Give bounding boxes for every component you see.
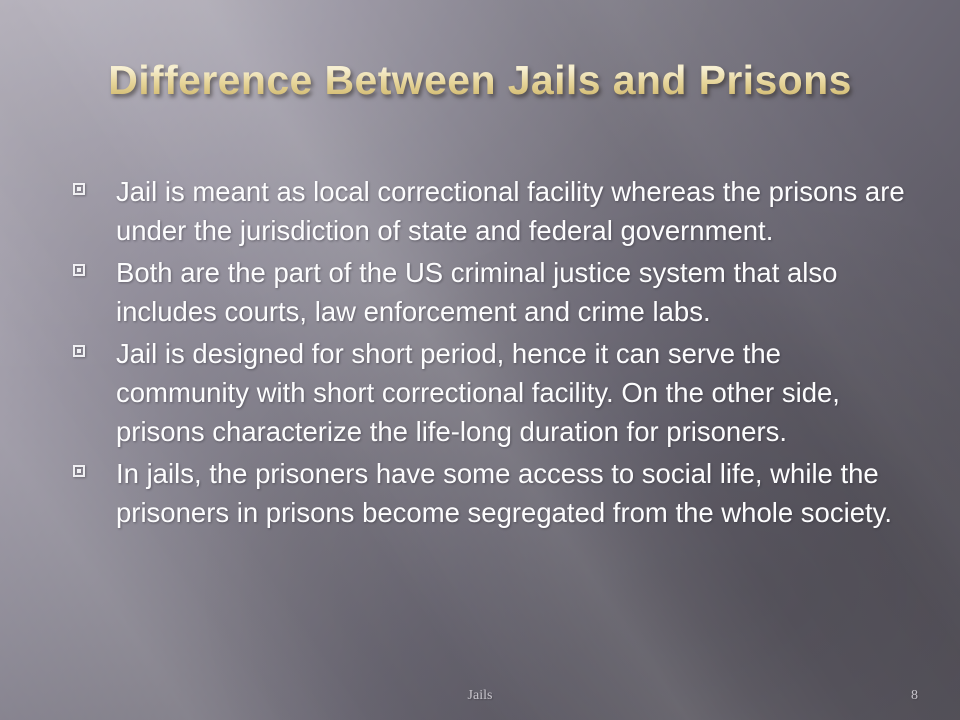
square-in-square-bullet-icon bbox=[73, 465, 85, 477]
square-in-square-bullet-icon bbox=[73, 264, 85, 276]
slide-title-area: Difference Between Jails and Prisons bbox=[0, 58, 960, 103]
list-item: Jail is designed for short period, hence… bbox=[62, 334, 918, 451]
list-item-text: Jail is meant as local correctional faci… bbox=[116, 172, 918, 250]
slide-title: Difference Between Jails and Prisons bbox=[108, 58, 852, 103]
bullet-list: Jail is meant as local correctional faci… bbox=[62, 172, 918, 535]
list-item: In jails, the prisoners have some access… bbox=[62, 454, 918, 532]
slide-page-number: 8 bbox=[911, 688, 918, 704]
list-item: Both are the part of the US criminal jus… bbox=[62, 253, 918, 331]
square-in-square-bullet-icon bbox=[73, 183, 85, 195]
presentation-slide: Difference Between Jails and Prisons Jai… bbox=[0, 0, 960, 720]
list-item-text: Jail is designed for short period, hence… bbox=[116, 334, 918, 451]
list-item: Jail is meant as local correctional faci… bbox=[62, 172, 918, 250]
slide-footer-label: Jails bbox=[0, 688, 960, 704]
list-item-text: In jails, the prisoners have some access… bbox=[116, 454, 918, 532]
list-item-text: Both are the part of the US criminal jus… bbox=[116, 253, 918, 331]
square-in-square-bullet-icon bbox=[73, 345, 85, 357]
